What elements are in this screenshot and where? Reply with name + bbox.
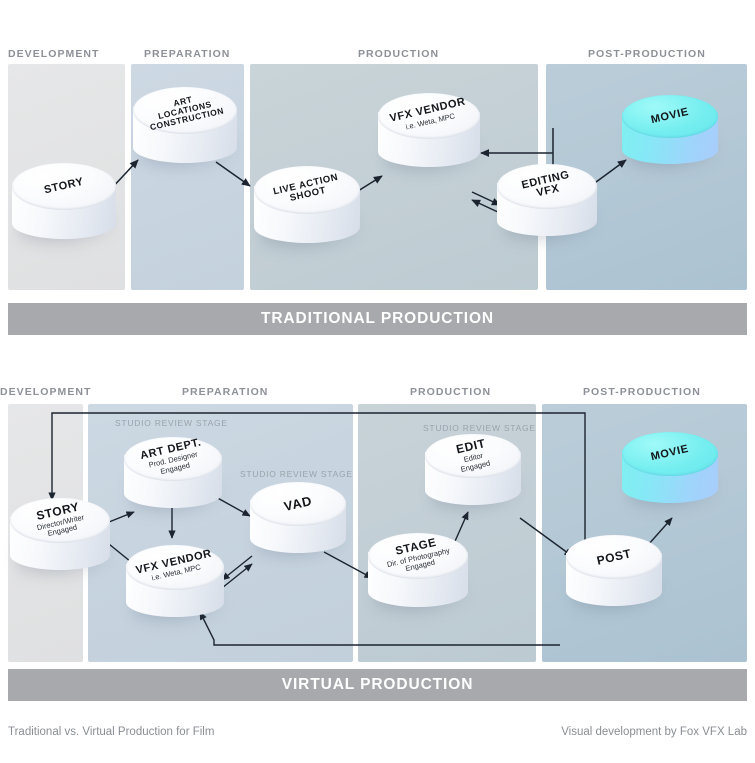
node-edit[interactable]: EDIT Editor Engaged (425, 434, 521, 518)
node-title: MOVIE (650, 444, 690, 464)
node-title: STORY (43, 176, 85, 196)
phase-label-preparation-top: PREPARATION (144, 48, 230, 60)
node-art-dept[interactable]: ART DEPT. Prod. Designer Engaged (124, 437, 222, 521)
node-story-traditional[interactable]: STORY (12, 163, 116, 253)
node-vfx-vendor-virtual[interactable]: VFX VENDOR i.e. Weta, MPC (126, 545, 224, 631)
phase-label-production-top: PRODUCTION (358, 48, 439, 60)
node-movie-traditional[interactable]: MOVIE (622, 95, 718, 177)
banner-virtual-production: VIRTUAL PRODUCTION (8, 669, 747, 701)
node-title: VAD (283, 494, 314, 514)
node-title: EDITING VFX (521, 170, 574, 203)
node-post[interactable]: POST (566, 535, 662, 619)
banner-label: TRADITIONAL PRODUCTION (261, 310, 494, 328)
node-title: POST (595, 547, 632, 567)
node-live-action-shoot[interactable]: LIVE ACTION SHOOT (254, 166, 360, 258)
phase-label-development-bottom: DEVELOPMENT (0, 386, 91, 398)
banner-label: VIRTUAL PRODUCTION (282, 676, 474, 694)
node-title: MOVIE (650, 106, 690, 126)
infographic-canvas: DEVELOPMENT PREPARATION PRODUCTION POST-… (0, 0, 755, 763)
node-story-virtual[interactable]: STORY Director/Writer Engaged (10, 498, 110, 584)
node-stage[interactable]: STAGE Dir. of Photography Engaged (368, 533, 468, 621)
node-subtitle: Editor Engaged (458, 451, 491, 475)
phase-label-production-bottom: PRODUCTION (410, 386, 491, 398)
phase-label-post-production-bottom: POST-PRODUCTION (583, 386, 701, 398)
node-art-locations-construction[interactable]: ART LOCATIONS CONSTRUCTION (133, 87, 237, 177)
footer-left-text: Traditional vs. Virtual Production for F… (8, 726, 214, 738)
node-movie-virtual[interactable]: MOVIE (622, 432, 718, 516)
node-vad[interactable]: VAD (250, 482, 346, 566)
node-title: LIVE ACTION SHOOT (272, 173, 341, 207)
node-title: ART LOCATIONS CONSTRUCTION (145, 89, 225, 132)
node-editing-vfx[interactable]: EDITING VFX (497, 164, 597, 250)
phase-label-development-top: DEVELOPMENT (8, 48, 99, 60)
node-vfx-vendor-traditional[interactable]: VFX VENDOR i.e. Weta, MPC (378, 93, 480, 181)
banner-traditional-production: TRADITIONAL PRODUCTION (8, 303, 747, 335)
phase-label-post-production-top: POST-PRODUCTION (588, 48, 706, 60)
phase-label-preparation-bottom: PREPARATION (182, 386, 268, 398)
footer-right-text: Visual development by Fox VFX Lab (561, 726, 747, 738)
